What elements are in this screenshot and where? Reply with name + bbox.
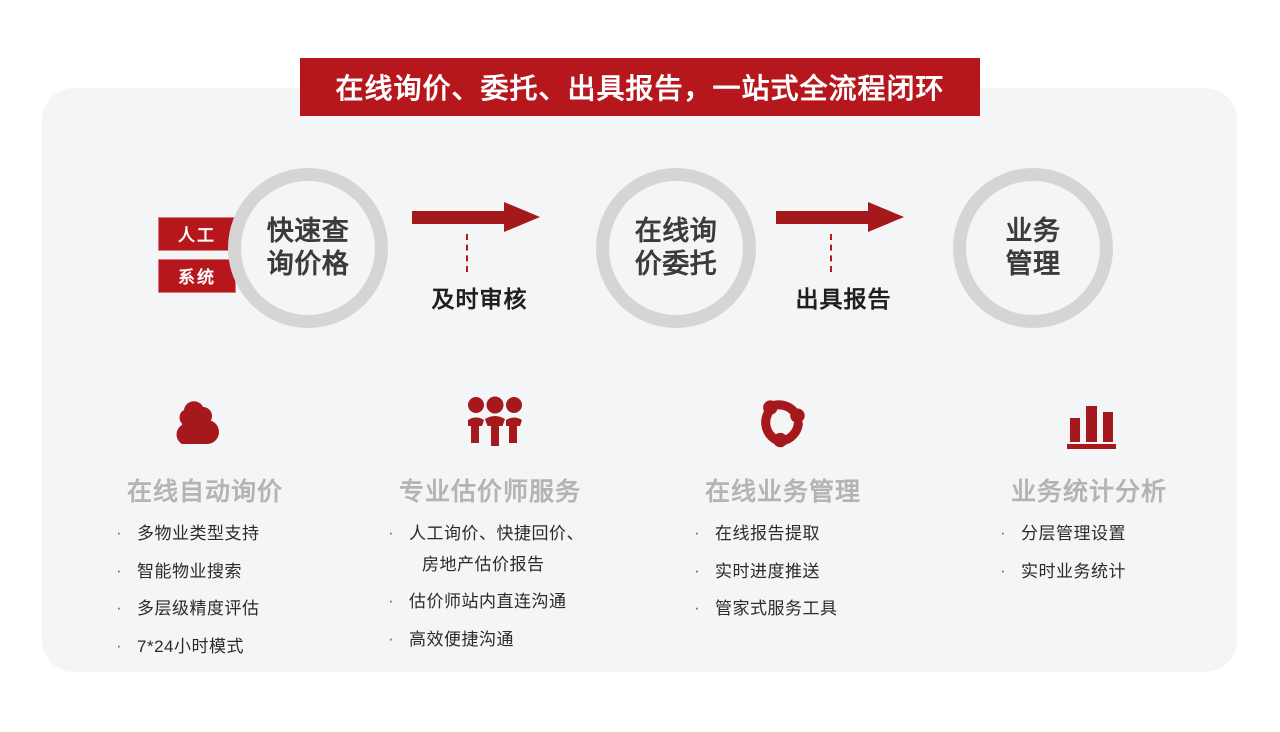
bullet-dot: · (694, 521, 700, 546)
arrow-1-shaft (412, 211, 510, 224)
list-item-text: 7*24小时模式 (137, 637, 244, 656)
list-item-text: 高效便捷沟通 (409, 630, 514, 649)
list-item: ·7*24小时模式 (110, 635, 410, 660)
list-item: ·实时业务统计 (994, 560, 1280, 585)
banner: 在线询价、委托、出具报告，一站式全流程闭环 (300, 58, 980, 116)
list-item-continuation: ·房地产估价报告 (382, 553, 682, 578)
arrow-2-shaft (776, 211, 874, 224)
bullet-dot: · (116, 634, 122, 659)
bullet-dot: · (694, 596, 700, 621)
badge-manual: 人工 (158, 217, 236, 251)
list-item-text: 管家式服务工具 (715, 599, 838, 618)
recycle-icon (688, 392, 988, 450)
list-item-text: 实时业务统计 (1021, 562, 1126, 581)
bullet-dot: · (116, 596, 122, 621)
feature-list: ·多物业类型支持 ·智能物业搜索 ·多层级精度评估 ·7*24小时模式 (110, 522, 410, 660)
bullet-dot: · (116, 521, 122, 546)
bar-chart-icon (994, 392, 1280, 450)
flow-arrow-1-label: 及时审核 (412, 280, 547, 314)
flow-step-3: 业务 管理 (953, 168, 1113, 328)
list-item: ·多物业类型支持 (110, 522, 410, 547)
list-item: ·估价师站内直连沟通 (382, 590, 682, 615)
list-item-text: 分层管理设置 (1021, 524, 1126, 543)
list-item: ·多层级精度评估 (110, 597, 410, 622)
bullet-dot: · (388, 627, 394, 652)
bullet-dot: · (388, 521, 394, 546)
list-item-text: 房地产估价报告 (422, 555, 545, 574)
list-item-text: 多层级精度评估 (137, 599, 260, 618)
feature-title: 在线业务管理 (688, 472, 988, 508)
bullet-dot: · (388, 589, 394, 614)
people-icon (382, 392, 682, 450)
process-flow: 人工 系统 快速查 询价格 及时审核 在线询 价委托 出具报告 业务 管理 (0, 160, 1280, 345)
feature-title: 专业估价师服务 (382, 472, 682, 508)
flow-step-3-label: 业务 管理 (1006, 215, 1061, 281)
feature-column: 在线业务管理 ·在线报告提取 ·实时进度推送 ·管家式服务工具 (688, 392, 988, 635)
list-item-text: 估价师站内直连沟通 (409, 592, 567, 611)
arrow-1-connector (466, 234, 468, 272)
flow-step-1: 快速查 询价格 (228, 168, 388, 328)
list-item: ·智能物业搜索 (110, 560, 410, 585)
badge-stack: 人工 系统 (158, 217, 236, 293)
arrow-1-shape (412, 202, 547, 232)
flow-step-1-label: 快速查 询价格 (267, 215, 350, 281)
feature-title: 业务统计分析 (994, 472, 1280, 508)
feature-columns: 在线自动询价 ·多物业类型支持 ·智能物业搜索 ·多层级精度评估 ·7*24小时… (0, 392, 1280, 652)
list-item: ·人工询价、快捷回价、 (382, 522, 682, 547)
arrow-1-head (504, 202, 540, 232)
feature-list: ·人工询价、快捷回价、 ·房地产估价报告 ·估价师站内直连沟通 ·高效便捷沟通 (382, 522, 682, 653)
banner-title: 在线询价、委托、出具报告，一站式全流程闭环 (335, 67, 944, 107)
list-item: ·实时进度推送 (688, 560, 988, 585)
feature-column: 专业估价师服务 ·人工询价、快捷回价、 ·房地产估价报告 ·估价师站内直连沟通 … (382, 392, 682, 666)
list-item: ·分层管理设置 (994, 522, 1280, 547)
feature-list: ·在线报告提取 ·实时进度推送 ·管家式服务工具 (688, 522, 988, 622)
list-item-text: 智能物业搜索 (137, 562, 242, 581)
feature-column: 业务统计分析 ·分层管理设置 ·实时业务统计 (994, 392, 1280, 597)
list-item-text: 人工询价、快捷回价、 (409, 524, 584, 543)
list-item-text: 在线报告提取 (715, 524, 820, 543)
badge-system: 系统 (158, 259, 236, 293)
arrow-2-shape (776, 202, 911, 232)
feature-column: 在线自动询价 ·多物业类型支持 ·智能物业搜索 ·多层级精度评估 ·7*24小时… (110, 392, 410, 673)
list-item-text: 多物业类型支持 (137, 524, 260, 543)
list-item: ·在线报告提取 (688, 522, 988, 547)
list-item-text: 实时进度推送 (715, 562, 820, 581)
arrow-2-head (868, 202, 904, 232)
arrow-2-connector (830, 234, 832, 272)
bullet-dot: · (1000, 521, 1006, 546)
flow-arrow-2: 出具报告 (776, 202, 911, 232)
list-item: ·高效便捷沟通 (382, 628, 682, 653)
bullet-dot: · (694, 559, 700, 584)
bullet-dot: · (1000, 559, 1006, 584)
cloud-icon (110, 392, 410, 450)
feature-title: 在线自动询价 (110, 472, 410, 508)
flow-arrow-1: 及时审核 (412, 202, 547, 232)
flow-arrow-2-label: 出具报告 (776, 280, 911, 314)
list-item: ·管家式服务工具 (688, 597, 988, 622)
flow-step-2-label: 在线询 价委托 (635, 215, 718, 281)
bullet-dot: · (116, 559, 122, 584)
flow-step-2: 在线询 价委托 (596, 168, 756, 328)
feature-list: ·分层管理设置 ·实时业务统计 (994, 522, 1280, 584)
